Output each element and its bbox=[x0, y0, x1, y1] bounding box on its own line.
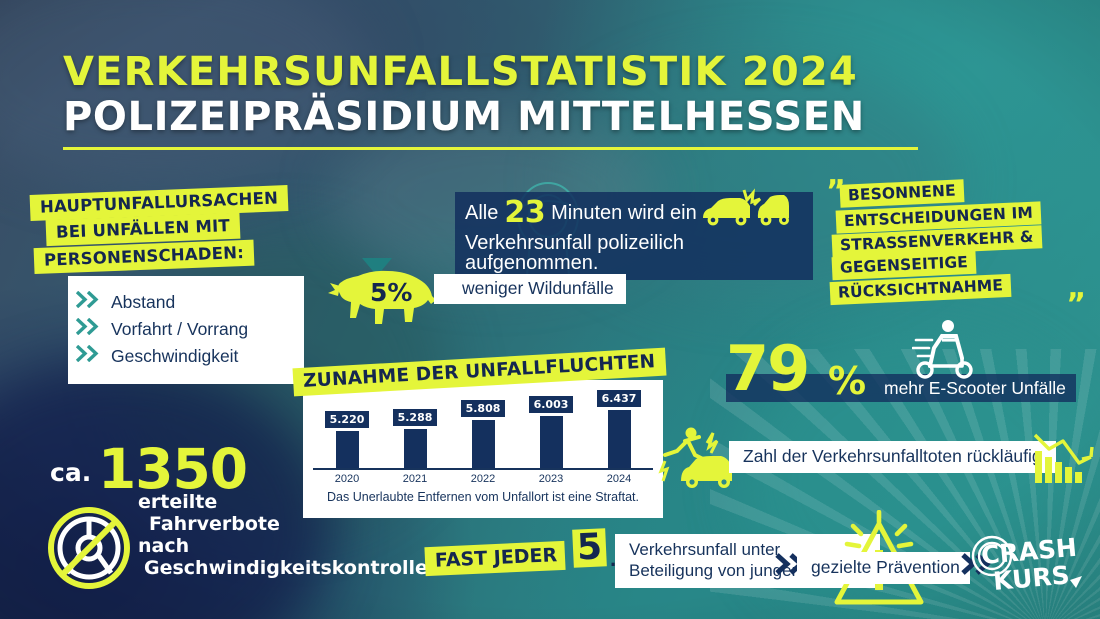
escooter-percent-sign: % bbox=[828, 362, 866, 400]
double-chevron-icon bbox=[76, 291, 102, 313]
quote-close-mark: ” bbox=[1066, 293, 1086, 317]
crash-kurs-logo: CRASH KURS bbox=[970, 526, 1088, 600]
escooter-number: 79 bbox=[726, 338, 808, 400]
double-chevron-icon bbox=[76, 318, 102, 340]
bans-line1: erteilte bbox=[138, 491, 217, 513]
young-drivers-number: 5 bbox=[572, 528, 607, 567]
road-deaths-block: Zahl der Verkehrsunfalltoten rückläufig bbox=[655, 425, 1095, 493]
chart-bar bbox=[540, 416, 563, 468]
double-chevron-icon bbox=[76, 345, 102, 367]
page-header: VERKEHRSUNFALLSTATISTIK 2024 POLIZEIPRÄS… bbox=[63, 52, 963, 150]
escooter-caption: mehr E-Scooter Unfälle bbox=[884, 378, 1066, 399]
chart-bar bbox=[608, 410, 631, 468]
escooter-accidents-block: 79 % mehr E-Scooter Unfälle bbox=[716, 340, 1088, 412]
cause-label: Vorfahrt / Vorrang bbox=[111, 319, 248, 340]
young-drivers-block: Verkehrsunfall unter Beteiligung von jun… bbox=[425, 534, 800, 594]
page-subtitle: POLIZEIPRÄSIDIUM MITTELHESSEN bbox=[63, 97, 963, 138]
minutes-suffix: Minuten wird ein bbox=[551, 203, 697, 223]
list-item: Abstand bbox=[76, 291, 288, 313]
minutes-prefix: Alle bbox=[465, 203, 498, 223]
prevention-label: gezielte Prävention bbox=[797, 552, 970, 584]
main-causes-block: HAUPTUNFALLURSACHEN BEI UNFÄLLEN MIT PER… bbox=[30, 190, 298, 384]
bans-number: 1350 bbox=[98, 442, 247, 497]
young-drivers-dot: · bbox=[610, 552, 617, 578]
chart-bar-value-label: 5.808 bbox=[461, 400, 506, 417]
bans-approx-prefix: ca. bbox=[50, 458, 91, 487]
boar-caption: weniger Wildunfälle bbox=[434, 274, 626, 304]
cause-label: Geschwindigkeit bbox=[111, 346, 238, 367]
quote-line: BESONNENE bbox=[840, 179, 965, 208]
wildlife-accidents-block: 5% weniger Wildunfälle bbox=[326, 256, 596, 338]
chart-x-tick-label: 2023 bbox=[523, 473, 579, 485]
chart-x-tick-label: 2024 bbox=[591, 473, 647, 485]
driving-bans-block: ca. 1350 erteilte Fahrverbote nach Gesch… bbox=[36, 445, 416, 595]
chart-bar bbox=[472, 420, 495, 468]
cause-label: Abstand bbox=[111, 292, 175, 313]
minutes-value: 23 bbox=[504, 198, 545, 228]
list-item: Geschwindigkeit bbox=[76, 345, 288, 367]
chart-x-tick-label: 2022 bbox=[455, 473, 511, 485]
bans-line4: Geschwindigkeitskontrollen bbox=[144, 557, 441, 579]
chart-bar-value-label: 6.437 bbox=[597, 390, 642, 407]
bans-line2: Fahrverbote bbox=[149, 513, 280, 535]
logo-text-kurs: KURS bbox=[992, 560, 1071, 596]
chart-bar-group: 6.003 bbox=[523, 390, 579, 468]
chart-bar-group: 5.808 bbox=[455, 390, 511, 468]
car-crash-icon bbox=[700, 184, 792, 232]
infographic-canvas: VERKEHRSUNFALLSTATISTIK 2024 POLIZEIPRÄS… bbox=[0, 0, 1100, 619]
chart-bar-group: 6.437 bbox=[591, 390, 647, 468]
declining-chart-icon bbox=[1033, 429, 1095, 485]
causes-list: Abstand Vorfahrt / Vorrang Geschwindigke… bbox=[68, 276, 304, 384]
road-deaths-caption: Zahl der Verkehrsunfalltoten rückläufig bbox=[729, 441, 1056, 473]
e-scooter-icon bbox=[912, 318, 978, 380]
list-item: Vorfahrt / Vorrang bbox=[76, 318, 288, 340]
young-drivers-tag: FAST JEDER bbox=[424, 541, 565, 576]
header-divider bbox=[63, 147, 918, 150]
prevention-block: gezielte Prävention CRASH KURS bbox=[775, 512, 1095, 612]
quote-block: ” BESONNENE ENTSCHEIDUNGEN IM STRASSENVE… bbox=[826, 182, 1082, 301]
boar-percent-value: 5% bbox=[370, 278, 412, 307]
bans-line3: nach bbox=[138, 535, 189, 557]
chart-bar-value-label: 5.288 bbox=[393, 409, 438, 426]
no-driving-icon bbox=[46, 505, 132, 591]
chart-bar-value-label: 6.003 bbox=[529, 396, 574, 413]
chart-bar-value-label: 5.220 bbox=[325, 411, 370, 428]
page-title: VERKEHRSUNFALLSTATISTIK 2024 bbox=[63, 52, 963, 93]
